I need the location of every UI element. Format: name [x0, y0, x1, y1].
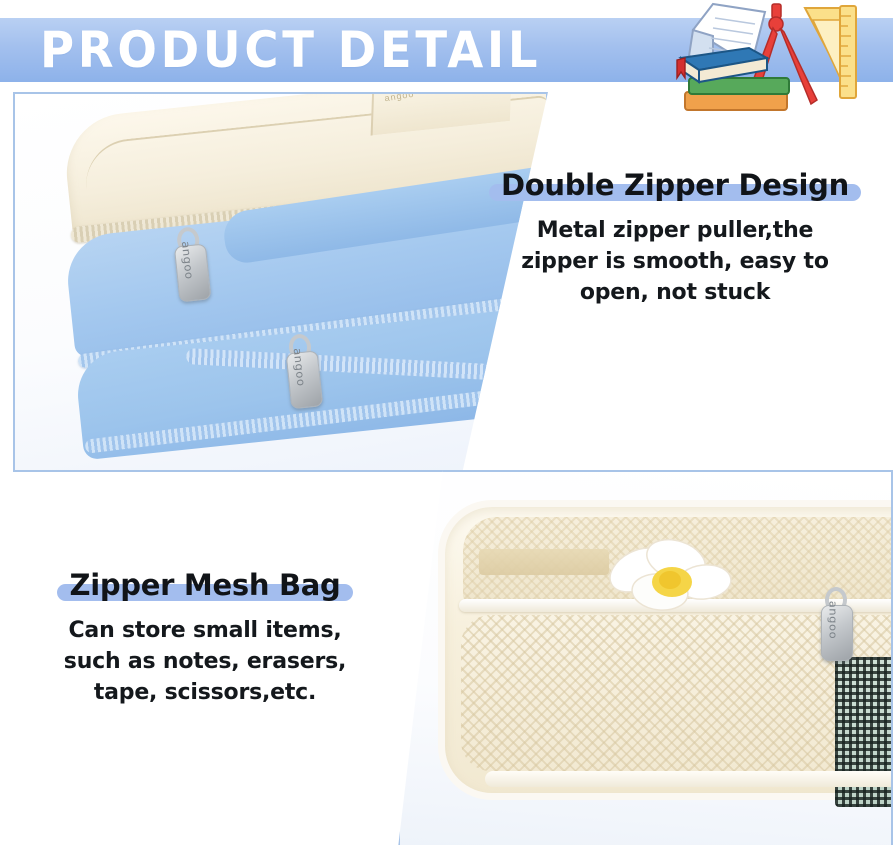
zipper-puller-lower: angoo	[280, 330, 328, 410]
product-image-1[interactable]: angoo angoo an	[13, 92, 548, 472]
zipper-puller-mesh: angoo	[817, 585, 857, 661]
puller-brand-mesh: angoo	[827, 601, 840, 635]
body-line: zipper is smooth, easy to	[485, 246, 865, 277]
body-line: open, not stuck	[485, 277, 865, 308]
bottom-seam	[485, 771, 893, 787]
section-body-double-zipper: Metal zipper puller,the zipper is smooth…	[485, 215, 865, 309]
yellow-triangle-ruler-icon	[805, 6, 856, 98]
page-title: PRODUCT DETAIL	[40, 18, 541, 82]
school-supplies-illustration	[655, 0, 893, 140]
section-double-zipper-text: Double Zipper Design Metal zipper puller…	[485, 168, 865, 309]
body-line: tape, scissors,etc.	[25, 677, 385, 708]
mesh-pocket-photo: angoo	[400, 472, 891, 845]
body-line: Can store small items,	[25, 615, 385, 646]
pencil-case-body: angoo angoo an	[40, 94, 546, 440]
zipper-puller-upper: angoo	[168, 223, 216, 303]
section-body-zipper-mesh-bag: Can store small items, such as notes, er…	[25, 615, 385, 709]
plumeria-flower-icon	[580, 530, 750, 620]
heading-wrap-1: Double Zipper Design	[501, 168, 849, 202]
pencil-case-photo-blue: angoo angoo an	[15, 94, 546, 470]
product-image-1-inner: angoo angoo an	[15, 94, 546, 470]
section-mesh-bag-text: Zipper Mesh Bag Can store small items, s…	[25, 568, 385, 709]
section-heading-zipper-mesh-bag: Zipper Mesh Bag	[69, 568, 340, 602]
product-image-2[interactable]: angoo	[398, 470, 893, 845]
stacked-books-icon	[677, 48, 789, 110]
body-line: such as notes, erasers,	[25, 646, 385, 677]
body-line: Metal zipper puller,the	[485, 215, 865, 246]
heading-wrap-2: Zipper Mesh Bag	[69, 568, 340, 602]
product-detail-page: PRODUCT DETAIL	[0, 0, 893, 845]
section-heading-double-zipper: Double Zipper Design	[501, 168, 849, 202]
